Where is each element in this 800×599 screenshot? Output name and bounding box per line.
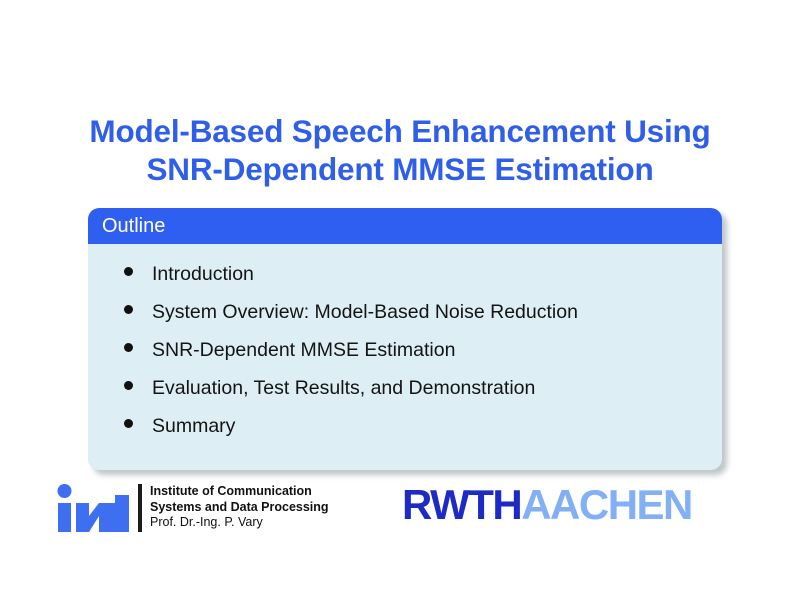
list-item: Summary [88,414,722,452]
outline-panel-body: Introduction System Overview: Model-Base… [88,244,722,452]
outline-bullet-list: Introduction System Overview: Model-Base… [88,262,722,452]
outline-panel-header-label: Outline [102,216,165,236]
aachen-wordmark-text: AACHEN [521,482,692,528]
rwth-aachen-logo: RWTH AACHEN [402,482,692,528]
slide-title-line-2: SNR-Dependent MMSE Estimation [0,150,800,188]
logo-divider [138,484,142,532]
list-item-label: Introduction [152,262,254,286]
presentation-slide: Model-Based Speech Enhancement Using SNR… [0,0,800,599]
list-item: SNR-Dependent MMSE Estimation [88,338,722,376]
ind-wordmark-icon [56,483,134,533]
outline-panel: Outline Introduction System Overview: Mo… [88,208,722,470]
list-item-label: Evaluation, Test Results, and Demonstrat… [152,376,535,400]
institute-professor-line: Prof. Dr.-Ing. P. Vary [150,515,329,531]
bullet-dot-icon [124,305,133,314]
bullet-dot-icon [124,381,133,390]
institute-text-block: Institute of Communication Systems and D… [150,483,329,531]
slide-title: Model-Based Speech Enhancement Using SNR… [0,112,800,188]
list-item: Introduction [88,262,722,300]
bullet-dot-icon [124,419,133,428]
institute-name-line-1: Institute of Communication [150,484,329,500]
bullet-dot-icon [124,343,133,352]
rwth-wordmark-text: RWTH [402,482,521,528]
slide-footer: Institute of Communication Systems and D… [0,480,800,550]
outline-panel-header: Outline [88,208,722,244]
bullet-dot-icon [124,267,133,276]
ind-institute-logo: Institute of Communication Systems and D… [56,483,329,533]
list-item: System Overview: Model-Based Noise Reduc… [88,300,722,338]
list-item: Evaluation, Test Results, and Demonstrat… [88,376,722,414]
list-item-label: System Overview: Model-Based Noise Reduc… [152,300,578,324]
list-item-label: SNR-Dependent MMSE Estimation [152,338,455,362]
slide-title-line-1: Model-Based Speech Enhancement Using [0,112,800,150]
institute-name-line-2: Systems and Data Processing [150,500,329,516]
list-item-label: Summary [152,414,235,438]
